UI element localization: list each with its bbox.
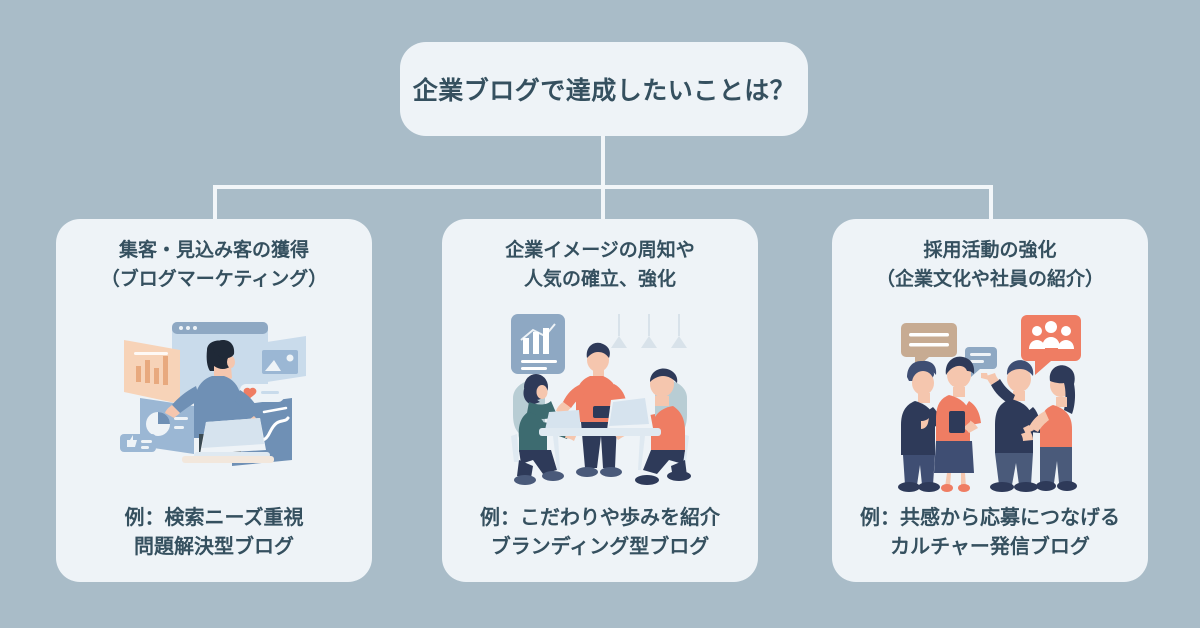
connector-drop-left	[213, 185, 217, 223]
branch-card-3: 採用活動の強化 （企業文化や社員の紹介）	[832, 219, 1148, 582]
diagram-canvas: 企業ブログで達成したいことは？ 集客・見込み客の獲得 （ブログマーケティング）	[0, 0, 1200, 628]
root-title-node: 企業ブログで達成したいことは？	[400, 42, 808, 136]
branch-card-1-illustration	[66, 294, 362, 504]
people-talking-speech-bubbles-icon	[885, 307, 1095, 493]
connector-drop-center	[601, 185, 605, 223]
branch-card-2-footer: 例：こだわりや歩みを紹介 ブランディング型ブログ	[480, 504, 720, 568]
branch-card-3-illustration	[842, 294, 1138, 504]
branch-card-3-footer: 例：共感から応募につなげる カルチャー発信ブログ	[860, 504, 1120, 568]
team-meeting-around-table-icon	[495, 310, 705, 490]
branch-card-2-illustration	[452, 294, 748, 504]
connector-stem	[601, 136, 605, 188]
branch-card-3-heading: 採用活動の強化 （企業文化や社員の紹介）	[876, 237, 1104, 294]
branch-card-1: 集客・見込み客の獲得 （ブログマーケティング）	[56, 219, 372, 582]
page-title: 企業ブログで達成したいことは？	[413, 71, 796, 107]
branch-card-1-heading: 集客・見込み客の獲得 （ブログマーケティング）	[101, 237, 327, 294]
connector-drop-right	[989, 185, 993, 223]
person-with-laptop-analytics-dashboards-icon	[114, 314, 314, 486]
branch-card-2: 企業イメージの周知や 人気の確立、強化	[442, 219, 758, 582]
branch-card-1-footer: 例：検索ニーズ重視 問題解決型ブログ	[125, 504, 304, 568]
branch-card-2-heading: 企業イメージの周知や 人気の確立、強化	[505, 237, 695, 294]
